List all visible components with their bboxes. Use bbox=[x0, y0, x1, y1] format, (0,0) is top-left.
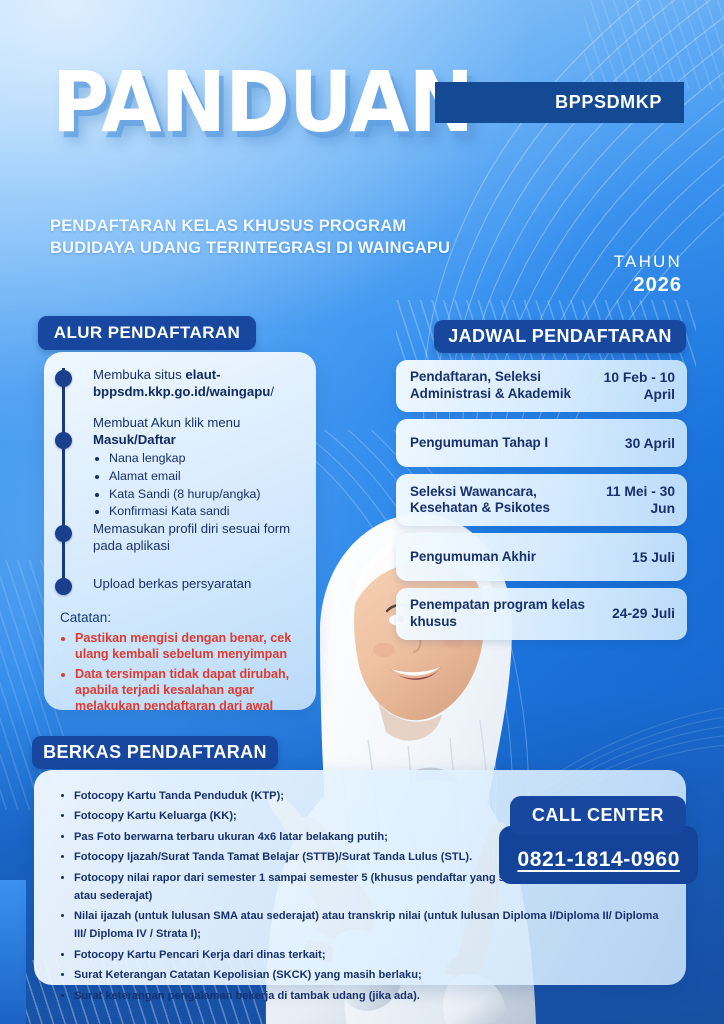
jadwal-row: Penempatan program kelas khusus 24-29 Ju… bbox=[396, 588, 687, 639]
berkas-item: Nilai ijazah (untuk lulusan SMA atau sed… bbox=[74, 908, 662, 944]
year-block: TAHUN 2026 bbox=[614, 252, 682, 297]
berkas-item: Surat Keterangan Catatan Kepolisian (SKC… bbox=[74, 967, 662, 985]
jadwal-row-label: Pengumuman Akhir bbox=[410, 549, 593, 566]
jadwal-row-date: 24-29 Juli bbox=[593, 605, 675, 622]
jadwal-row-date: 10 Feb - 10 April bbox=[593, 369, 675, 403]
jadwal-row: Pengumuman Tahap I 30 April bbox=[396, 419, 687, 467]
jadwal-row-date: 11 Mei - 30 Jun bbox=[593, 483, 675, 517]
call-center-number[interactable]: 0821-1814-0960 bbox=[517, 848, 680, 872]
subtitle-line-1: PENDAFTARAN KELAS KHUSUS PROGRAM bbox=[50, 216, 450, 238]
catatan-item: Data tersimpan tidak dapat dirubah, apab… bbox=[75, 666, 306, 710]
alur-sub-item: Nana lengkap bbox=[109, 450, 306, 468]
catatan-title: Catatan: bbox=[60, 610, 306, 625]
jadwal-row: Pengumuman Akhir 15 Juli bbox=[396, 533, 687, 581]
jadwal-row-label: Penempatan program kelas khusus bbox=[410, 597, 593, 630]
poster-root: PANDUAN BPPSDMKP PENDAFTARAN KELAS KHUSU… bbox=[0, 0, 724, 1024]
organization-badge: BPPSDMKP bbox=[435, 82, 684, 123]
alur-step-2: Membuat Akun klik menu Masuk/Daftar Nana… bbox=[93, 414, 306, 521]
timeline-dot-4 bbox=[55, 578, 72, 595]
jadwal-table: Pendaftaran, Seleksi Administrasi & Akad… bbox=[396, 360, 687, 647]
catatan-block: Catatan: Pastikan mengisi dengan benar, … bbox=[60, 610, 306, 710]
alur-step-3: Memasukan profil diri sesuai form pada a… bbox=[93, 520, 306, 554]
jadwal-row-label: Seleksi Wawancara, Kesehatan & Psikotes bbox=[410, 484, 593, 517]
timeline-dot-2 bbox=[55, 432, 72, 449]
jadwal-row-date: 30 April bbox=[593, 435, 675, 452]
section-heading-jadwal: JADWAL PENDAFTARAN bbox=[434, 320, 686, 353]
alur-step-1: Membuka situs elaut-bppsdm.kkp.go.id/wai… bbox=[93, 366, 306, 400]
timeline-line bbox=[62, 368, 65, 594]
timeline-dot-3 bbox=[55, 525, 72, 542]
alur-step-2-prefix: Membuat Akun klik menu bbox=[93, 415, 240, 430]
catatan-list: Pastikan mengisi dengan benar, cek ulang… bbox=[75, 630, 306, 710]
poster-title: PANDUAN bbox=[52, 66, 473, 138]
section-heading-berkas: BERKAS PENDAFTARAN bbox=[32, 736, 278, 769]
hatch-pattern-top-right bbox=[584, 0, 724, 90]
year-value: 2026 bbox=[614, 274, 682, 297]
jadwal-row: Pendaftaran, Seleksi Administrasi & Akad… bbox=[396, 360, 687, 412]
jadwal-row-label: Pendaftaran, Seleksi Administrasi & Akad… bbox=[410, 369, 593, 402]
timeline-dot-1 bbox=[55, 370, 72, 387]
alur-sub-list: Nana lengkap Alamat email Kata Sandi (8 … bbox=[109, 450, 306, 520]
berkas-item: Fotocopy Kartu Pencari Kerja dari dinas … bbox=[74, 947, 662, 965]
alur-step-2-bold: Masuk/Daftar bbox=[93, 432, 176, 447]
alur-step-1-suffix: / bbox=[270, 384, 274, 399]
year-label: TAHUN bbox=[614, 252, 682, 272]
catatan-item: Pastikan mengisi dengan benar, cek ulang… bbox=[75, 630, 306, 663]
jadwal-row-date: 15 Juli bbox=[593, 549, 675, 566]
call-center-label: CALL CENTER bbox=[510, 796, 686, 835]
alur-step-4: Upload berkas persyaratan bbox=[93, 575, 306, 592]
subtitle-line-2: BUDIDAYA UDANG TERINTEGRASI DI WAINGAPU bbox=[50, 238, 450, 260]
alur-sub-item: Konfirmasi Kata sandi bbox=[109, 503, 306, 521]
berkas-item: Surat keterangan pengalaman bekerja di t… bbox=[74, 988, 662, 1006]
poster-subtitle: PENDAFTARAN KELAS KHUSUS PROGRAM BUDIDAY… bbox=[50, 216, 450, 260]
jadwal-row: Seleksi Wawancara, Kesehatan & Psikotes … bbox=[396, 474, 687, 526]
left-edge-band bbox=[0, 880, 26, 1024]
alur-step-1-prefix: Membuka situs bbox=[93, 367, 185, 382]
section-heading-alur: ALUR PENDAFTARAN bbox=[38, 316, 256, 350]
jadwal-row-label: Pengumuman Tahap I bbox=[410, 435, 593, 452]
alur-card: Membuka situs elaut-bppsdm.kkp.go.id/wai… bbox=[44, 352, 316, 710]
alur-sub-item: Kata Sandi (8 hurup/angka) bbox=[109, 486, 306, 504]
alur-sub-item: Alamat email bbox=[109, 468, 306, 486]
